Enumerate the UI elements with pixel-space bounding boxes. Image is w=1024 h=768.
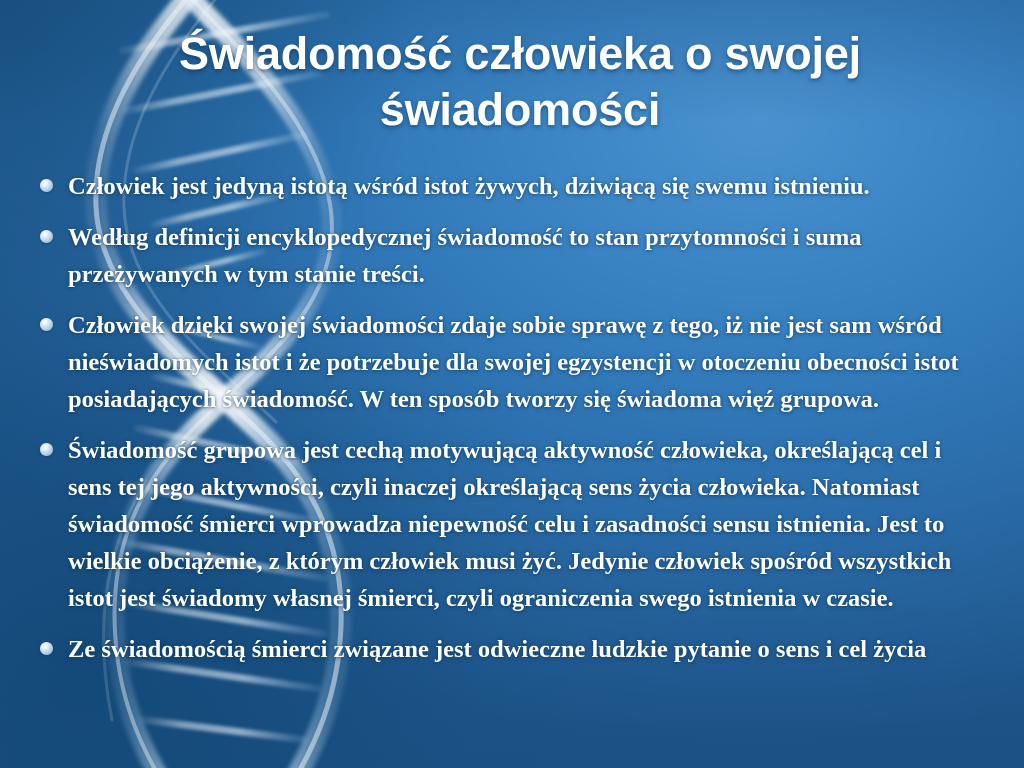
- bullet-list: Człowiek jest jedyną istotą wśród istot …: [40, 168, 988, 668]
- list-item[interactable]: Świadomość grupowa jest cechą motywującą…: [40, 432, 988, 617]
- bullet-text: Człowiek dzięki swojej świadomości zdaje…: [68, 307, 988, 418]
- list-item[interactable]: Człowiek dzięki swojej świadomości zdaje…: [40, 307, 988, 418]
- bullet-text: Według definicji encyklopedycznej świado…: [68, 219, 988, 293]
- bullet-text: Ze świadomością śmierci związane jest od…: [68, 631, 988, 668]
- bullet-circle-icon: [40, 318, 53, 331]
- bullet-text: Świadomość grupowa jest cechą motywującą…: [68, 432, 988, 617]
- list-item[interactable]: Według definicji encyklopedycznej świado…: [40, 219, 988, 293]
- presentation-slide: Świadomość człowieka o swojej świadomośc…: [0, 0, 1024, 768]
- bullet-circle-icon: [40, 443, 53, 456]
- list-item[interactable]: Człowiek jest jedyną istotą wśród istot …: [40, 168, 988, 205]
- bullet-circle-icon: [40, 230, 53, 243]
- list-item[interactable]: Ze świadomością śmierci związane jest od…: [40, 631, 988, 668]
- slide-title: Świadomość człowieka o swojej świadomośc…: [150, 26, 890, 138]
- bullet-text: Człowiek jest jedyną istotą wśród istot …: [68, 168, 988, 205]
- bullet-circle-icon: [40, 179, 53, 192]
- bullet-circle-icon: [40, 642, 53, 655]
